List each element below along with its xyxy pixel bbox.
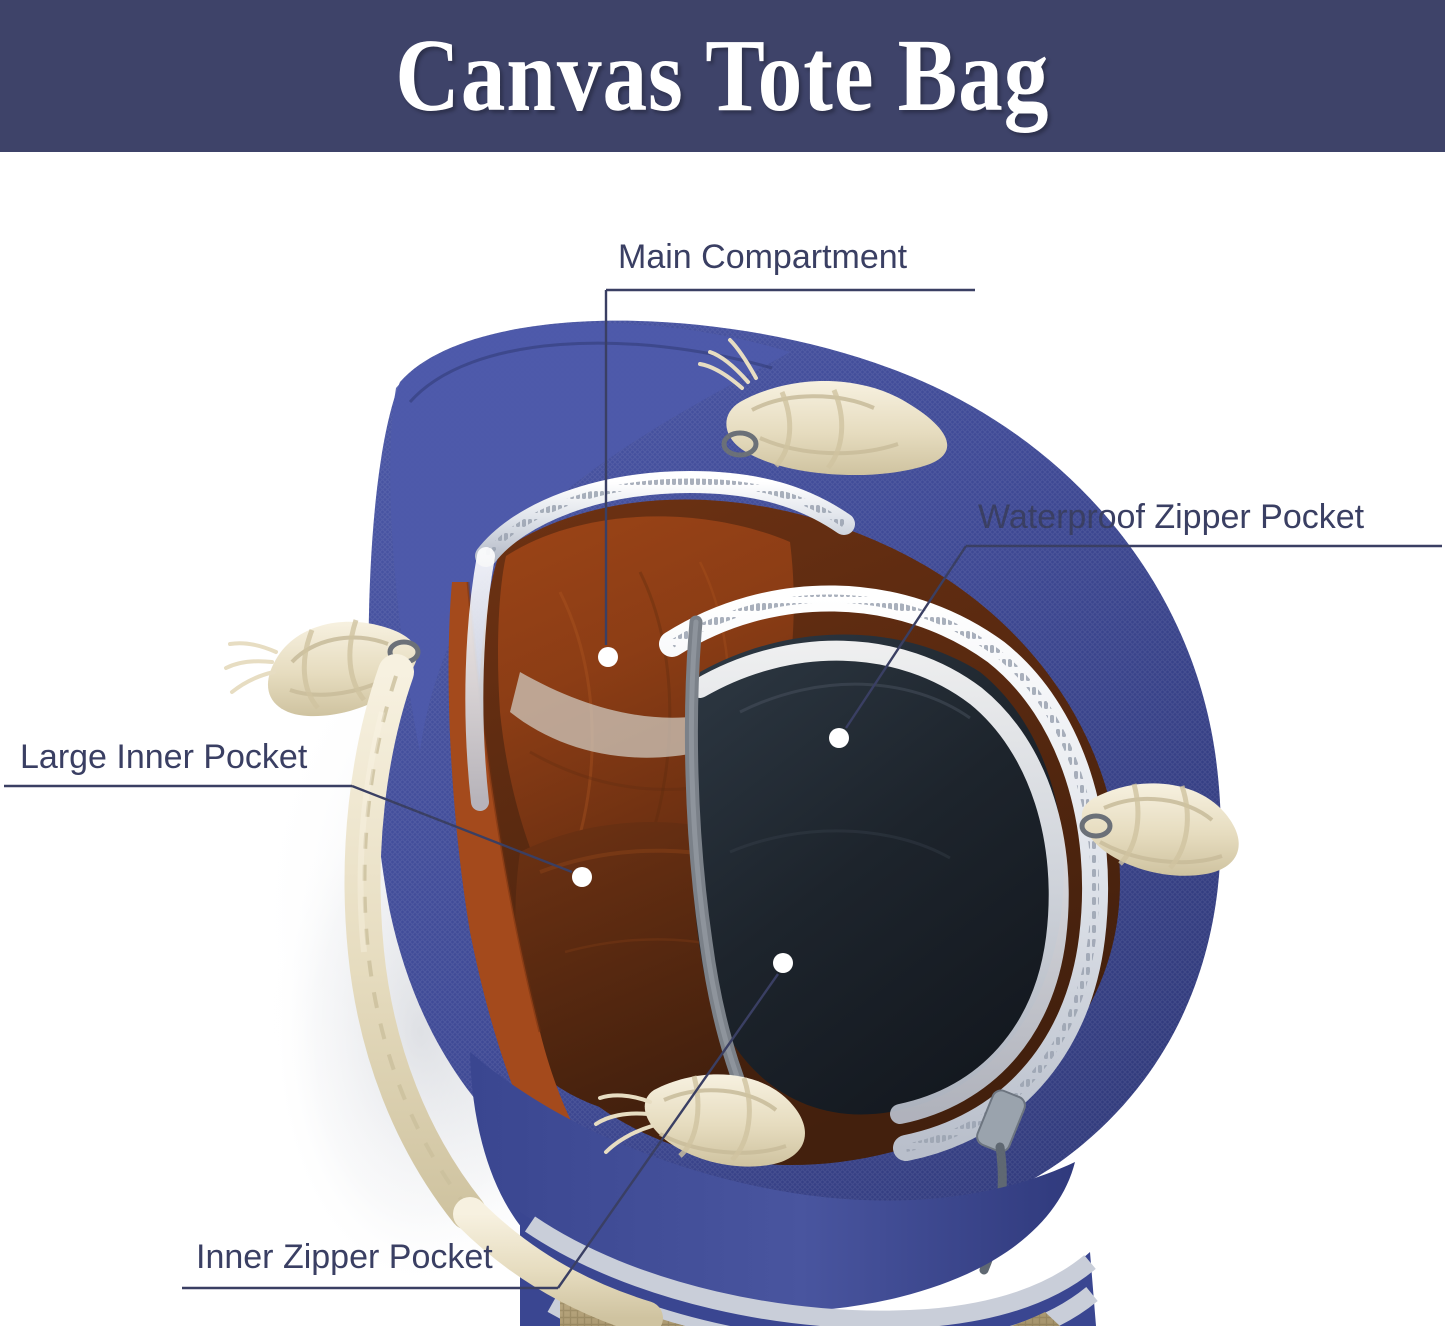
page-title: Canvas Tote Bag	[395, 24, 1049, 128]
callout-large-inner-pocket-label: Large Inner Pocket	[14, 740, 313, 781]
callout-main-compartment: Main Compartment	[612, 240, 913, 281]
header-banner: Canvas Tote Bag	[0, 0, 1445, 152]
callout-main-compartment-label: Main Compartment	[612, 240, 913, 281]
callout-inner-zipper-pocket-label: Inner Zipper Pocket	[190, 1240, 499, 1281]
callout-inner-zipper-pocket: Inner Zipper Pocket	[190, 1240, 499, 1281]
callout-waterproof-zipper-pocket-label: Waterproof Zipper Pocket	[972, 500, 1370, 541]
infographic-page: Canvas Tote Bag	[0, 0, 1445, 1326]
callout-waterproof-zipper-pocket: Waterproof Zipper Pocket	[972, 500, 1370, 541]
callout-large-inner-pocket: Large Inner Pocket	[14, 740, 313, 781]
